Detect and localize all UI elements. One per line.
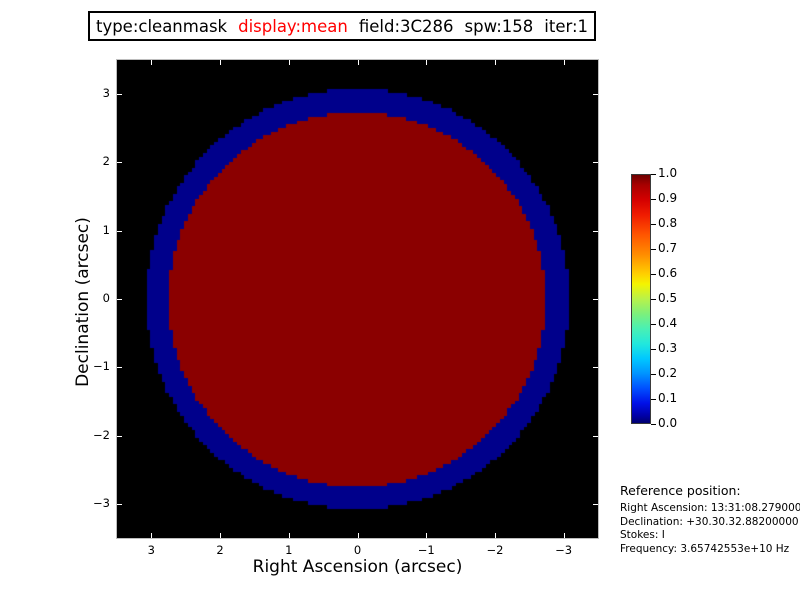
colorbar-tick-label: 0.6 [658,266,677,280]
colorbar-tick-label: 0.7 [658,241,677,255]
cleanmask-image-canvas[interactable] [117,60,598,538]
colorbar-tick-mark [651,199,656,200]
x-tick-mark-top [495,60,496,65]
y-tick-mark [117,436,122,437]
x-tick-label: −3 [544,543,584,557]
y-tick-mark [117,162,122,163]
y-tick-mark [117,231,122,232]
reference-position-ra: Right Ascension: 13:31:08.27900000 [620,502,800,516]
colorbar-tick-label: 0.4 [658,316,677,330]
x-tick-mark-top [151,60,152,65]
title-segment-display: display:mean [238,17,348,36]
reference-position-frequency: Frequency: 3.65742553e+10 Hz [620,543,800,557]
y-tick-mark-right [593,94,598,95]
x-tick-mark [220,533,221,538]
x-tick-mark [564,533,565,538]
x-tick-label: 1 [269,543,309,557]
colorbar-tick-mark [651,324,656,325]
x-tick-label: −1 [406,543,446,557]
x-axis-label: Right Ascension (arcsec) [116,557,599,577]
colorbar[interactable] [631,174,651,424]
y-tick-mark-right [593,162,598,163]
y-tick-mark-right [593,367,598,368]
x-tick-mark [426,533,427,538]
colorbar-tick-label: 0.0 [658,416,677,430]
colorbar-tick-mark [651,174,656,175]
title-segment-iter: iter:1 [544,17,588,36]
colorbar-tick-mark [651,374,656,375]
y-tick-mark-right [593,504,598,505]
colorbar-tick-label: 0.2 [658,366,677,380]
x-tick-mark-top [564,60,565,65]
y-tick-mark [117,504,122,505]
y-tick-mark [117,367,122,368]
x-tick-mark-top [220,60,221,65]
title-segment-field: field:3C286 [359,17,454,36]
colorbar-tick-mark [651,274,656,275]
colorbar-tick-mark [651,224,656,225]
plot-title-box: type:cleanmask display:mean field:3C286 … [88,11,596,41]
y-axis-label: Declination (arcsec) [73,62,93,542]
title-segment-spw: spw:158 [465,17,534,36]
x-tick-label: 3 [131,543,171,557]
colorbar-tick-mark [651,399,656,400]
colorbar-tick-label: 1.0 [658,166,677,180]
x-tick-label: 0 [338,543,378,557]
x-tick-mark-top [426,60,427,65]
colorbar-tick-mark [651,249,656,250]
colorbar-tick-label: 0.8 [658,216,677,230]
reference-position-stokes: Stokes: I [620,529,800,543]
y-tick-mark-right [593,299,598,300]
x-tick-mark [289,533,290,538]
image-plot-area[interactable] [116,59,599,539]
x-tick-mark-top [358,60,359,65]
reference-position-block: Reference position: Right Ascension: 13:… [620,483,800,556]
colorbar-tick-label: 0.1 [658,391,677,405]
x-tick-label: −2 [475,543,515,557]
x-tick-mark-top [289,60,290,65]
reference-position-title: Reference position: [620,483,800,498]
y-tick-mark [117,94,122,95]
x-tick-mark [495,533,496,538]
x-tick-mark [151,533,152,538]
x-tick-mark [358,533,359,538]
y-tick-mark [117,299,122,300]
colorbar-gradient [632,175,650,423]
colorbar-tick-label: 0.9 [658,191,677,205]
colorbar-tick-label: 0.5 [658,291,677,305]
colorbar-tick-mark [651,299,656,300]
x-tick-label: 2 [200,543,240,557]
title-segment-type: type:cleanmask [96,17,227,36]
colorbar-tick-mark [651,349,656,350]
y-tick-mark-right [593,231,598,232]
reference-position-dec: Declination: +30.30.32.88200000 [620,516,800,530]
colorbar-tick-mark [651,424,656,425]
y-tick-mark-right [593,436,598,437]
colorbar-tick-label: 0.3 [658,341,677,355]
